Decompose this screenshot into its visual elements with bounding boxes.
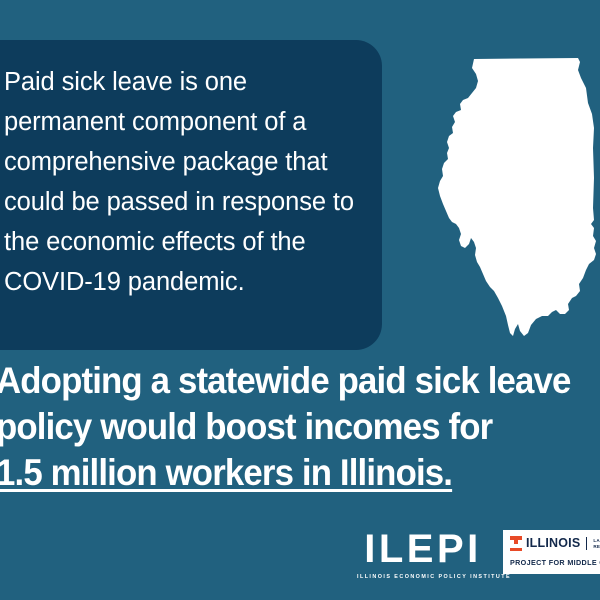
headline-block: Adopting a statewide paid sick leave pol… bbox=[0, 358, 600, 496]
illinois-block-i-icon bbox=[510, 536, 522, 551]
illinois-map-graphic bbox=[436, 48, 600, 348]
illinois-state-outline-icon bbox=[436, 48, 600, 348]
ler-badge-top-row: ILLINOIS LABOR & E RELATIONS bbox=[510, 535, 600, 552]
footer-logo-bar: ILEPI ILLINOIS ECONOMIC POLICY INSTITUTE… bbox=[0, 518, 600, 600]
ler-project-name: PROJECT FOR MIDDLE CLASS bbox=[510, 558, 600, 567]
illinois-ler-badge: ILLINOIS LABOR & E RELATIONS PROJECT FOR… bbox=[503, 530, 600, 574]
quote-text: Paid sick leave is one permanent compone… bbox=[4, 62, 356, 302]
ilepi-wordmark: ILEPI bbox=[357, 528, 489, 570]
ler-department-name: LABOR & E RELATIONS bbox=[593, 538, 600, 549]
quote-card: Paid sick leave is one permanent compone… bbox=[0, 40, 382, 350]
headline-line-1: Adopting a statewide paid sick leave bbox=[0, 358, 571, 404]
ler-department-line-1: LABOR & E bbox=[593, 538, 600, 543]
ler-badge-divider bbox=[586, 537, 587, 550]
ilepi-logo: ILEPI ILLINOIS ECONOMIC POLICY INSTITUTE bbox=[357, 528, 489, 580]
ilepi-tagline: ILLINOIS ECONOMIC POLICY INSTITUTE bbox=[357, 574, 489, 580]
ler-institution-name: ILLINOIS bbox=[526, 537, 580, 550]
headline-line-3: 1.5 million workers in Illinois. bbox=[0, 450, 571, 496]
ler-department-line-2: RELATIONS bbox=[593, 544, 600, 549]
headline-line-2: policy would boost incomes for bbox=[0, 404, 571, 450]
